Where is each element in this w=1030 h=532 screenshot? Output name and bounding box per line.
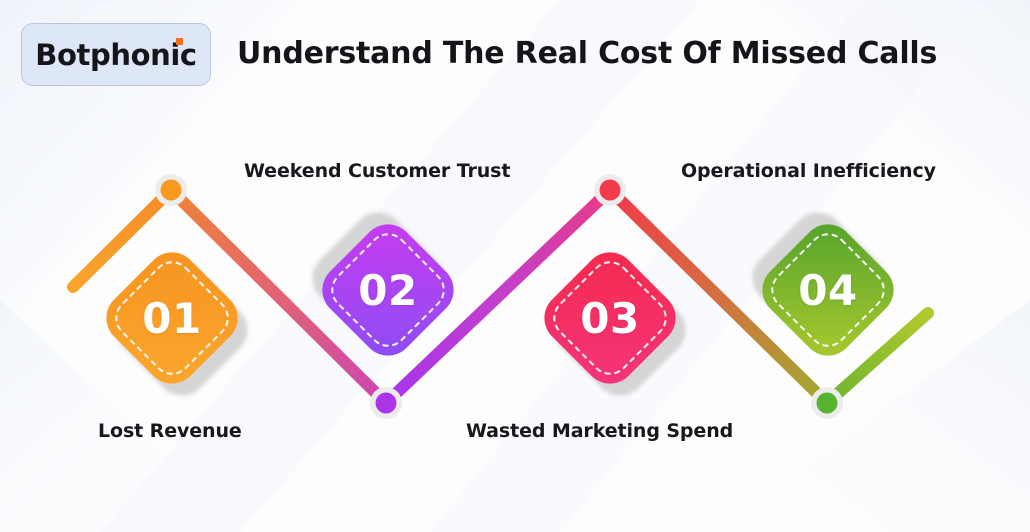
step-number: 03	[535, 243, 685, 393]
step-card-4[interactable]: 04	[753, 215, 903, 365]
step-card-1[interactable]: 01	[97, 243, 247, 393]
infographic-canvas: Botphonic Understand The Real Cost Of Mi…	[0, 0, 1030, 532]
step-number: 01	[97, 243, 247, 393]
step-card-3[interactable]: 03	[535, 243, 685, 393]
step-label-3: Wasted Marketing Spend	[466, 420, 733, 442]
step-number: 04	[753, 215, 903, 365]
step-label-4: Operational Inefficiency	[681, 160, 936, 182]
step-number: 02	[313, 215, 463, 365]
step-label-1: Lost Revenue	[98, 420, 242, 442]
step-card-2[interactable]: 02	[313, 215, 463, 365]
step-label-2: Weekend Customer Trust	[244, 160, 510, 182]
